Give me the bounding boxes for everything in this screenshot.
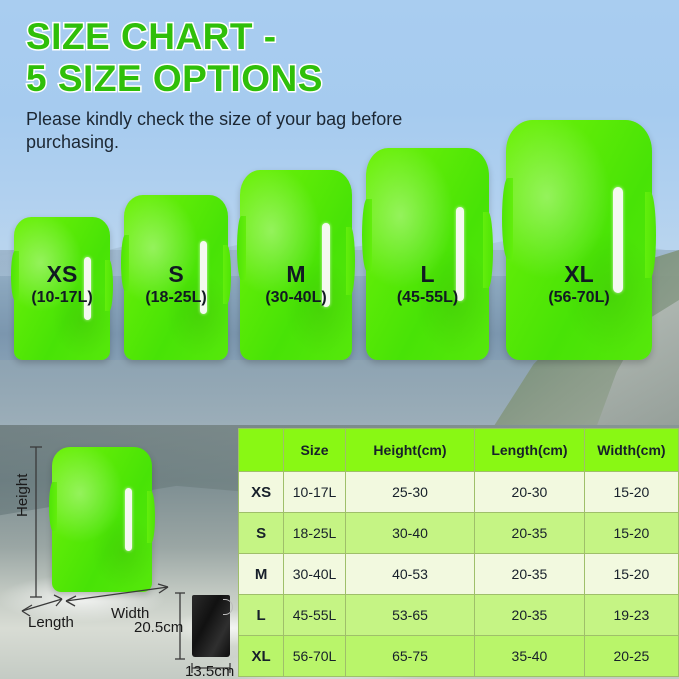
table-row: XL 56-70L 65-75 35-40 20-25 [239, 636, 679, 677]
cell-height: 25-30 [345, 472, 474, 513]
backpack-cover-shape [366, 148, 489, 360]
cell-width: 19-23 [584, 595, 678, 636]
table-header-height: Height(cm) [345, 429, 474, 472]
size-chart-infographic: SIZE CHART - 5 SIZE OPTIONS Please kindl… [0, 0, 679, 679]
cell-capacity: 10-17L [284, 472, 346, 513]
table-header-length: Length(cm) [475, 429, 585, 472]
row-size-xl: XL [239, 636, 284, 677]
table-header-row: Size Height(cm) Length(cm) Width(cm) [239, 429, 679, 472]
backpack-cover-shape [506, 120, 652, 360]
row-size-s: S [239, 513, 284, 554]
table-header-blank [239, 429, 284, 472]
backpack-label-s: S (18-25L) [124, 262, 228, 309]
cell-length: 20-30 [475, 472, 585, 513]
measurement-diagram: Height Length Width 20.5cm 13.5cm [0, 425, 238, 679]
backpack-label-m: M (30-40L) [240, 262, 352, 309]
backpack-size-label: M [240, 262, 352, 287]
backpack-capacity-label: (18-25L) [124, 287, 228, 309]
row-size-m: M [239, 554, 284, 595]
length-dimension-label: Length [28, 614, 74, 631]
backpack-size-label: L [366, 262, 489, 287]
cell-length: 20-35 [475, 554, 585, 595]
cell-length: 20-35 [475, 595, 585, 636]
cell-width: 15-20 [584, 472, 678, 513]
table-row: S 18-25L 30-40 20-35 15-20 [239, 513, 679, 554]
backpack-size-comparison-row: XS (10-17L) S (18-25L) M (30-40L) [0, 110, 679, 360]
cell-height: 30-40 [345, 513, 474, 554]
size-table: Size Height(cm) Length(cm) Width(cm) XS … [238, 428, 679, 677]
cell-capacity: 45-55L [284, 595, 346, 636]
cell-width: 15-20 [584, 513, 678, 554]
storage-pouch [192, 595, 230, 657]
backpack-item-l [366, 148, 489, 360]
backpack-capacity-label: (56-70L) [506, 287, 652, 309]
pouch-height-label: 20.5cm [134, 619, 183, 636]
cell-capacity: 56-70L [284, 636, 346, 677]
cell-height: 65-75 [345, 636, 474, 677]
backpack-size-label: S [124, 262, 228, 287]
row-size-l: L [239, 595, 284, 636]
cell-length: 35-40 [475, 636, 585, 677]
page-title-line-1: SIZE CHART - [26, 16, 646, 58]
table-row: M 30-40L 40-53 20-35 15-20 [239, 554, 679, 595]
cell-height: 40-53 [345, 554, 474, 595]
cell-height: 53-65 [345, 595, 474, 636]
table-row: L 45-55L 53-65 20-35 19-23 [239, 595, 679, 636]
size-table-header: Size Height(cm) Length(cm) Width(cm) [239, 429, 679, 472]
page-title-line-2: 5 SIZE OPTIONS [26, 58, 646, 100]
cell-width: 20-25 [584, 636, 678, 677]
table-header-size: Size [284, 429, 346, 472]
cell-capacity: 18-25L [284, 513, 346, 554]
backpack-label-xs: XS (10-17L) [14, 262, 110, 309]
width-arrow-line [66, 587, 168, 601]
backpack-size-label: XL [506, 262, 652, 287]
backpack-label-l: L (45-55L) [366, 262, 489, 309]
cell-width: 15-20 [584, 554, 678, 595]
table-row: XS 10-17L 25-30 20-30 15-20 [239, 472, 679, 513]
pouch-width-label: 13.5cm [185, 663, 234, 679]
row-size-xs: XS [239, 472, 284, 513]
backpack-label-xl: XL (56-70L) [506, 262, 652, 309]
cell-length: 20-35 [475, 513, 585, 554]
height-dimension-label: Height [14, 474, 31, 517]
table-header-width: Width(cm) [584, 429, 678, 472]
length-arrow-line [22, 599, 62, 611]
backpack-capacity-label: (30-40L) [240, 287, 352, 309]
backpack-capacity-label: (10-17L) [14, 287, 110, 309]
backpack-size-label: XS [14, 262, 110, 287]
backpack-capacity-label: (45-55L) [366, 287, 489, 309]
cell-capacity: 30-40L [284, 554, 346, 595]
backpack-item-xl [506, 120, 652, 360]
size-table-body: XS 10-17L 25-30 20-30 15-20 S 18-25L 30-… [239, 472, 679, 677]
